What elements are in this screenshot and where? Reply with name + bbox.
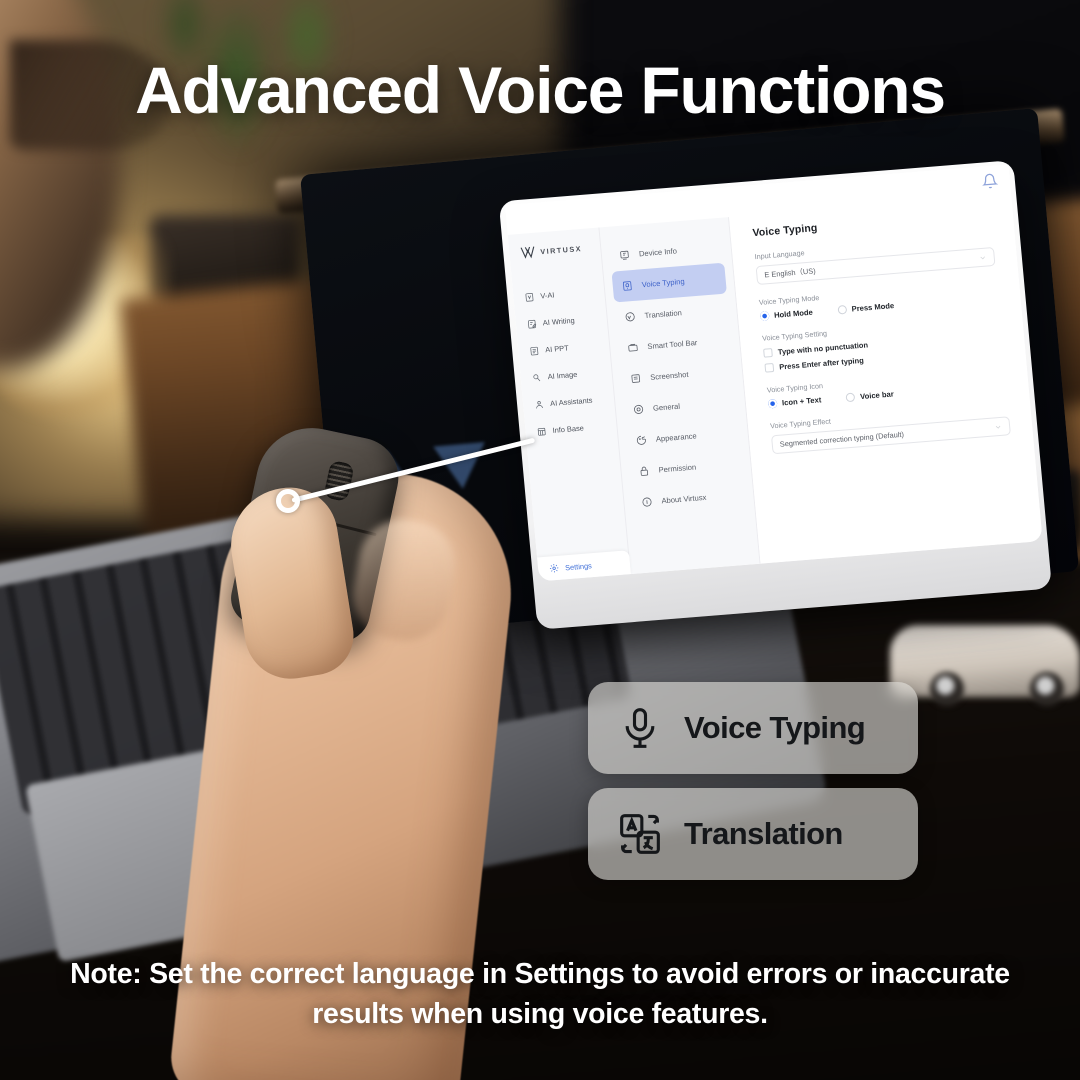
ai-image-icon [531, 372, 542, 383]
callout-marker [276, 489, 300, 513]
permission-icon [638, 465, 650, 477]
voice-typing-effect-value: Segmented correction typing (Default) [779, 430, 904, 449]
detail-pane: Voice Typing Input Language E English（US… [726, 164, 1042, 563]
ai-ppt-icon [529, 345, 540, 356]
settings-nav-label: Device Info [639, 246, 678, 258]
voice-typing-icon [621, 280, 633, 292]
radio-label: Voice bar [860, 389, 894, 401]
checkbox-indicator [764, 363, 773, 372]
about-icon [641, 496, 653, 508]
page-title: Voice Typing [752, 208, 991, 239]
settings-nav-label: General [653, 402, 681, 413]
radio-indicator [760, 311, 770, 321]
feature-pill-voice-typing[interactable]: Voice Typing [588, 682, 918, 774]
checkbox-label: Type with no punctuation [778, 340, 869, 356]
sidebar-item-label: AI Image [547, 370, 577, 381]
translate-icon [618, 812, 662, 856]
appearance-icon [635, 434, 647, 446]
feature-pill-label: Voice Typing [684, 710, 865, 746]
settings-nav-label: Permission [658, 463, 696, 475]
sidebar-item-label: Info Base [552, 423, 584, 434]
checkbox-label: Press Enter after typing [779, 356, 864, 372]
input-language-value: E English（US) [764, 265, 816, 280]
screenshot-icon [630, 373, 642, 385]
ai-assistants-icon [534, 399, 545, 410]
smart-tool-bar-icon [627, 342, 639, 354]
radio-indicator [837, 305, 847, 315]
device-info-icon [619, 249, 631, 261]
radio-indicator [768, 399, 778, 409]
settings-nav-label: Voice Typing [641, 277, 685, 289]
primary-nav-list: V-AI AI Writing AI PPT [512, 277, 617, 446]
chevron-down-icon [978, 253, 987, 262]
background-toy-car-wheel [1030, 672, 1064, 706]
general-icon [633, 404, 645, 416]
sidebar-item-label: AI PPT [545, 343, 569, 354]
brand-logo: VIRTUSX [508, 232, 601, 269]
radio-icon-plus-text[interactable]: Icon + Text [768, 395, 822, 408]
radio-press-mode[interactable]: Press Mode [837, 301, 894, 315]
settings-nav-label: Translation [644, 308, 682, 320]
background-toy-car-wheel [930, 672, 964, 706]
ai-writing-icon [526, 318, 537, 329]
v-ai-icon [524, 291, 535, 302]
sidebar-settings-label: Settings [565, 561, 592, 572]
sidebar-item-info-base[interactable]: Info Base [524, 412, 617, 446]
chevron-down-icon [994, 422, 1003, 431]
settings-nav-label: Smart Tool Bar [647, 338, 698, 351]
footer-note: Note: Set the correct language in Settin… [0, 955, 1080, 1034]
info-base-icon [536, 426, 547, 437]
radio-label: Press Mode [851, 301, 894, 313]
radio-indicator [846, 393, 856, 403]
bell-icon[interactable] [981, 172, 998, 189]
settings-nav-label: About Virtusx [661, 493, 707, 506]
virtusx-v-logo-icon [519, 243, 537, 261]
radio-hold-mode[interactable]: Hold Mode [760, 308, 813, 321]
app-window: VIRTUSX V-AI AI Writing [505, 164, 1045, 603]
page-headline: Advanced Voice Functions [0, 52, 1080, 128]
radio-voice-bar[interactable]: Voice bar [846, 389, 894, 402]
sidebar-item-label: AI Assistants [550, 396, 593, 408]
feature-pill-list: Voice Typing Translation [588, 682, 918, 894]
microphone-icon [618, 706, 662, 750]
settings-nav-label: Appearance [655, 431, 697, 443]
settings-nav-label: Screenshot [650, 370, 689, 382]
sidebar-item-label: V-AI [540, 290, 555, 300]
sidebar-item-label: AI Writing [542, 316, 575, 328]
radio-label: Hold Mode [774, 308, 814, 320]
translation-icon [624, 311, 636, 323]
checkbox-indicator [763, 348, 772, 357]
gear-icon [549, 563, 560, 574]
brand-name: VIRTUSX [540, 243, 582, 255]
feature-pill-label: Translation [684, 816, 843, 852]
radio-label: Icon + Text [782, 395, 822, 407]
feature-pill-translation[interactable]: Translation [588, 788, 918, 880]
